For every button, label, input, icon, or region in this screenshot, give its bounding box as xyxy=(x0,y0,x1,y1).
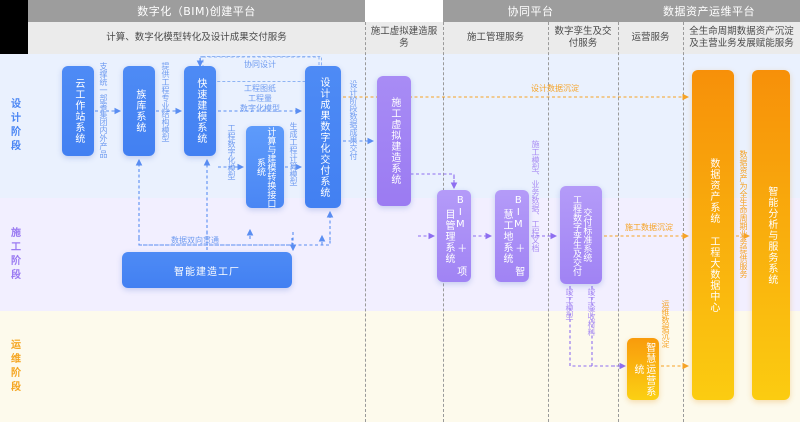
label-as-built-acceptance-docs: 竣工验收材料 xyxy=(586,288,596,336)
box-label-right: 交付标准系统 xyxy=(581,208,591,262)
label-generate-calc-model: 生成工程计算模型 xyxy=(288,122,298,186)
platform-header-data-asset: 数据资产运维平台 xyxy=(618,0,800,22)
box-label: 智能建造工厂 xyxy=(174,263,240,278)
column-separator-4 xyxy=(618,22,619,422)
service-header-calc-delivery: 计算、数字化模型转化及设计成果交付服务 xyxy=(28,22,365,54)
box-bim-smart-site[interactable]: BIM ＋ 智慧工地系统 xyxy=(495,190,529,282)
label-as-built-model: 竣工模型 xyxy=(564,288,574,320)
platform-header-collab: 协同平台 xyxy=(443,0,618,22)
label-design-data-precipitation: 设计数据沉淀 xyxy=(510,84,600,94)
label-om-data-precipitation: 运维数据沉淀 xyxy=(660,300,670,348)
box-bim-project-management[interactable]: BIM ＋ 项目管理系统 xyxy=(437,190,471,282)
box-rapid-modeling[interactable]: 快速建模系统 xyxy=(184,66,216,156)
box-virtual-build-system[interactable]: 施工虚拟建造系统 xyxy=(377,76,411,206)
label-drawings-quantity-model: 工程图纸 工程量 数字化模型 xyxy=(228,84,292,114)
label-design-stage-handover: 设计阶段数据成果交付 xyxy=(348,80,358,160)
box-data-asset-system[interactable]: 数据资产系统 工程大数据中心 xyxy=(692,70,734,400)
box-label: 数据资产系统 工程大数据中心 xyxy=(707,158,719,313)
platform-header-bim: 数字化（BIM)创建平台 xyxy=(28,0,365,22)
box-label: 云工作站系统 xyxy=(72,78,84,144)
box-design-delivery-system[interactable]: 设计成果数字化交付系统 xyxy=(305,66,341,208)
service-header-virtual-build: 施工虚拟建造服务 xyxy=(365,22,443,54)
box-label: 设计成果数字化交付系统 xyxy=(317,77,329,198)
label-construction-model-docs: 施工模型、业务数据、工程文档 xyxy=(530,140,540,252)
box-cloud-workstation[interactable]: 云工作站系统 xyxy=(62,66,94,156)
corner-block-top xyxy=(0,0,28,22)
box-smart-operation-system[interactable]: 智慧运营系统 xyxy=(627,338,659,400)
column-separator-3 xyxy=(548,22,549,422)
box-label-left: 工程数字孪生及交付 xyxy=(571,195,581,276)
box-label: 族库系统 xyxy=(133,89,145,133)
label-collab-design: 协同设计 xyxy=(228,60,292,70)
box-label: 施工虚拟建造系统 xyxy=(388,97,400,185)
corner-block-bottom xyxy=(0,22,28,54)
label-support-deploy: 支撑统一部署集团内外产品 xyxy=(98,62,108,158)
box-label: 智能分析与服务系统 xyxy=(765,186,777,285)
stage-label-design: 设计阶段 xyxy=(7,98,22,154)
stage-label-operation: 运维阶段 xyxy=(7,339,22,395)
label-engineering-digital-model: 工程数字化模型 xyxy=(226,124,236,180)
box-label: BIM ＋ 智慧工地系统 xyxy=(500,190,524,282)
box-calc-convert-interface[interactable]: 计算与建模转换接口系统 xyxy=(246,126,284,208)
label-provide-structure: 提供工程专业结构模型 xyxy=(160,62,170,142)
label-two-way-data: 数据双向贯通 xyxy=(150,236,240,246)
stage-row-construction: 施工阶段 xyxy=(0,198,800,311)
stage-row-operation: 运维阶段 xyxy=(0,311,800,422)
box-digital-twin-delivery[interactable]: 工程数字孪生及交付 交付标准系统 xyxy=(560,186,602,284)
box-label: 快速建模系统 xyxy=(194,78,206,144)
service-header-lifecycle: 全生命周期数据资产沉淀及主营业务发展赋能服务 xyxy=(683,22,800,54)
box-label: 智慧运营系统 xyxy=(631,338,655,400)
column-separator-1 xyxy=(365,22,366,422)
box-family-library[interactable]: 族库系统 xyxy=(123,66,155,156)
column-separator-5 xyxy=(683,22,684,422)
box-label: BIM ＋ 项目管理系统 xyxy=(442,190,466,282)
stage-label-construction: 施工阶段 xyxy=(7,227,22,283)
box-smart-construction-factory[interactable]: 智能建造工厂 xyxy=(122,252,292,288)
service-header-constr-mgmt: 施工管理服务 xyxy=(443,22,548,54)
service-header-digital-twin: 数字孪生及交付服务 xyxy=(548,22,618,54)
label-asset-serves-lifecycle: 数据资产为全生命周期业务提供服务 xyxy=(738,150,748,278)
service-header-operation: 运营服务 xyxy=(618,22,683,54)
box-smart-analysis-service[interactable]: 智能分析与服务系统 xyxy=(752,70,790,400)
label-construction-data-precipitation: 施工数据沉淀 xyxy=(614,223,684,233)
architecture-diagram: 设计阶段 施工阶段 运维阶段 数字化（BIM)创建平台 协同平台 数据资产运维平… xyxy=(0,0,800,422)
box-label: 计算与建模转换接口系统 xyxy=(255,126,276,208)
